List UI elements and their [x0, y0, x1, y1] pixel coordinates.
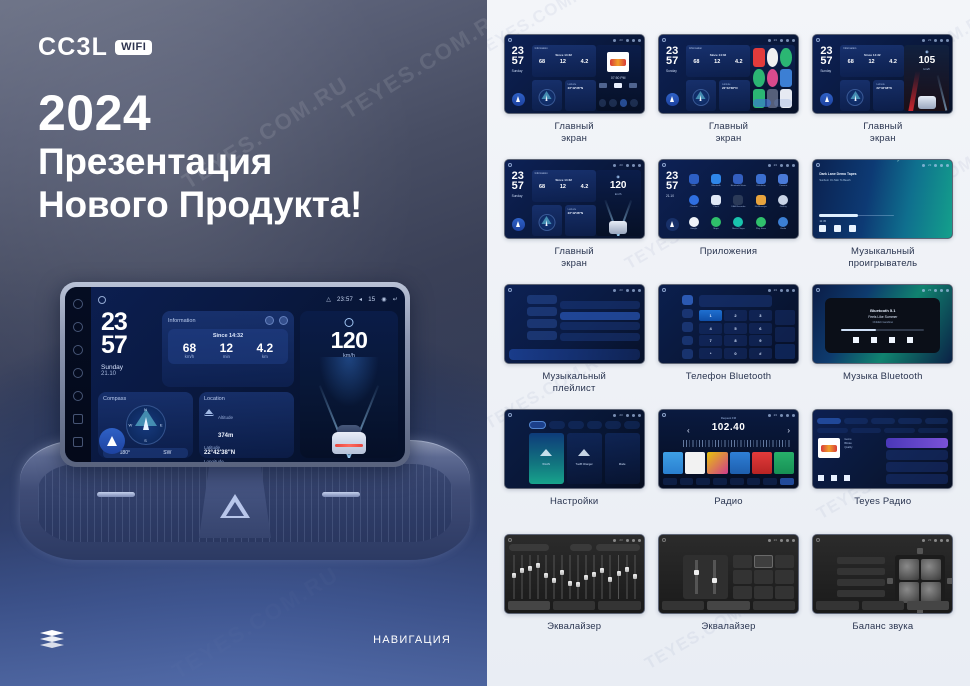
next-icon[interactable]	[849, 225, 856, 232]
preset-tile[interactable]	[754, 586, 773, 599]
navigation-fab	[820, 93, 833, 106]
fader-handle[interactable]	[600, 568, 604, 573]
dialpad-key[interactable]: 9	[749, 335, 772, 346]
dialpad[interactable]: 1 2 3 4 5 6 7 8 9 * 0 #	[699, 310, 772, 359]
compass-dial: N S E W	[126, 405, 166, 445]
settings-card-mode[interactable]: Mode	[605, 433, 640, 484]
app-label: Radio	[780, 228, 786, 230]
expand-icon[interactable]	[279, 316, 288, 325]
tab[interactable]	[871, 418, 895, 424]
dialpad-key[interactable]: 0	[724, 348, 747, 359]
settings-icon[interactable]	[763, 478, 777, 485]
gallery-item[interactable]: .23...	[501, 284, 647, 409]
preset-tile[interactable]	[733, 570, 752, 583]
eq-fader[interactable]	[543, 555, 549, 599]
volume-down-icon[interactable]	[73, 414, 83, 424]
fader-handle[interactable]	[608, 577, 612, 582]
station-row[interactable]	[886, 474, 948, 484]
dialpad-key[interactable]: 3	[749, 310, 772, 321]
sidebar-item[interactable]	[527, 319, 557, 328]
home-icon	[816, 38, 820, 42]
mini-music-player: .23... Dark Lane Demo Tapes Sunburn On S…	[813, 160, 952, 238]
dialpad-key[interactable]: *	[699, 348, 722, 359]
stop-icon[interactable]	[831, 475, 837, 481]
tab-fade[interactable]	[753, 601, 795, 610]
fader-handle[interactable]	[625, 567, 629, 572]
wifi-icon: .	[613, 39, 616, 42]
thumbnail-sound-balance[interactable]: .23...	[812, 534, 953, 614]
search-icon[interactable]	[682, 322, 693, 332]
settings-card-wlan[interactable]: WLAN	[529, 433, 564, 484]
phone-sidebar[interactable]	[681, 295, 695, 359]
eq-fader[interactable]	[535, 555, 541, 599]
tab-navigate[interactable]	[605, 421, 621, 429]
volume-icon[interactable]: ◂	[359, 296, 362, 303]
hud-speed-unit: km/h	[904, 67, 949, 71]
band-button[interactable]	[663, 478, 677, 485]
hud-speed-value: 105	[904, 55, 949, 66]
app-tile[interactable]: DAB Recorder	[728, 192, 749, 213]
play-store-icon	[756, 217, 766, 227]
dialpad-key[interactable]: #	[749, 348, 772, 359]
clock-day: Sunday	[512, 69, 524, 73]
eq-fader[interactable]	[607, 555, 613, 599]
album-art	[607, 52, 629, 72]
tab-theme[interactable]	[587, 421, 603, 429]
playback-controls[interactable]	[819, 225, 856, 232]
caption-line1: Главный	[709, 121, 748, 133]
information-title: Information	[168, 318, 196, 324]
music-time: 07:50 PM	[596, 76, 641, 80]
sidebar-item[interactable]	[527, 331, 557, 340]
call-history-icon[interactable]	[682, 336, 693, 346]
sidebar-item[interactable]	[527, 295, 557, 304]
app-tile[interactable]: Maps	[705, 213, 726, 234]
preset-tile[interactable]	[774, 452, 794, 474]
preset-tile[interactable]	[730, 452, 750, 474]
now-playing-bar[interactable]	[509, 349, 640, 360]
eq-fader[interactable]	[575, 555, 581, 599]
dialpad-key[interactable]: 6	[749, 323, 772, 334]
call-icon[interactable]	[775, 344, 795, 359]
hud-speed-value: 120	[596, 180, 641, 191]
gallery-item[interactable]: .23... Dark Lane Demo Tapes Sunburn On S…	[810, 159, 956, 284]
tab-fade[interactable]	[598, 601, 640, 610]
eq-fader[interactable]	[519, 555, 525, 599]
mini-phone-screen: .23... 1 2 3 4 5	[659, 285, 798, 363]
fader-handle[interactable]	[576, 582, 580, 587]
eq-slider[interactable]	[713, 560, 716, 594]
settings-card-changer[interactable]: Tuoffl Changer	[567, 433, 602, 484]
speaker-rear-right[interactable]	[921, 582, 941, 603]
thumbnail-radio[interactable]: .23... Request FM ‹ 102.40 ›	[658, 409, 799, 489]
preset-tile[interactable]	[754, 555, 773, 568]
status-time: 23	[619, 538, 622, 542]
radio-toolbar[interactable]	[663, 477, 794, 485]
dialpad-key[interactable]: 1	[699, 310, 722, 321]
tab-eq[interactable]	[662, 601, 704, 610]
gallery-item[interactable]: .23... 23 57 21.10 WiFi Bluetooth Blueto…	[655, 159, 801, 284]
station-row[interactable]	[886, 450, 948, 460]
fader-handle[interactable]	[520, 568, 524, 573]
fader-handle[interactable]	[536, 563, 540, 568]
information-actions[interactable]	[265, 316, 288, 325]
caption-line2: экран	[863, 133, 902, 145]
app-tile[interactable]: Camera	[773, 170, 794, 191]
fader-handle[interactable]	[617, 571, 621, 576]
filter[interactable]	[884, 428, 915, 433]
station-row[interactable]	[886, 462, 948, 472]
mini-status-bar: .23...	[662, 162, 795, 168]
app-tile[interactable]: Gallery	[773, 192, 794, 213]
thumbnail-playlist[interactable]: .23...	[504, 284, 645, 364]
hud-widget[interactable]: 120 km/h	[300, 311, 398, 458]
preset-tile[interactable]	[775, 586, 794, 599]
back-icon: .	[946, 39, 949, 42]
gallery-item[interactable]: .23... Bluetooth 5.1 Feels Like Summer C…	[810, 284, 956, 409]
fader-handle[interactable]	[592, 572, 596, 577]
eq-fader[interactable]	[624, 555, 630, 599]
thumbnail-equalizer-presets[interactable]: .23...	[658, 534, 799, 614]
progress-bar[interactable]	[819, 215, 894, 217]
list-icon[interactable]	[696, 478, 710, 485]
logo-wifi-badge: WIFI	[115, 40, 152, 55]
thumbnail-teyes-radio[interactable]: GenreBitrateQuality	[812, 409, 953, 489]
fader-handle[interactable]	[512, 573, 516, 578]
preset-tile[interactable]	[663, 452, 683, 474]
app-tile[interactable]: Bluetooth	[705, 170, 726, 191]
tab[interactable]	[925, 418, 949, 424]
tab[interactable]	[844, 418, 868, 424]
eq-fader[interactable]	[591, 555, 597, 599]
teyes-radio-filters[interactable]	[817, 428, 948, 434]
status-time: 23	[774, 538, 777, 542]
playlist-sidebar[interactable]	[527, 295, 557, 343]
app-label: Google	[690, 228, 697, 230]
back-icon: .	[638, 164, 641, 167]
thumbnail-bluetooth-phone[interactable]: .23... 1 2 3 4 5	[658, 284, 799, 364]
mini-status-bar: .23...	[662, 37, 795, 43]
volume-icon: .	[780, 539, 783, 542]
next-icon[interactable]	[907, 337, 913, 343]
clock-widget: 23 57 Sunday 21.10	[98, 311, 156, 387]
fader-handle[interactable]	[544, 573, 548, 578]
playback-controls[interactable]	[818, 475, 850, 481]
thumbnail-home-music[interactable]: .23... 23 57 Sunday Information Since 14…	[504, 34, 645, 114]
eq-sliders[interactable]	[683, 555, 728, 599]
gallery-caption: Музыкальный проигрыватель	[848, 246, 917, 269]
speaker-front-right[interactable]	[921, 559, 941, 580]
balance-pad[interactable]	[895, 555, 945, 607]
thumbnail-equalizer[interactable]: .23...	[504, 534, 645, 614]
backspace-icon[interactable]	[775, 327, 795, 342]
eq-toggle[interactable]	[570, 544, 592, 551]
thumbnail-settings[interactable]: .23... WLAN	[504, 409, 645, 489]
eq-fader[interactable]	[632, 555, 638, 599]
gallery-item[interactable]: .23... 23 57 Sunday Information Since 14…	[655, 34, 801, 159]
track-row[interactable]	[560, 301, 640, 309]
sidebar-item[interactable]	[527, 307, 557, 316]
dialpad-key[interactable]: 7	[699, 335, 722, 346]
gallery-item[interactable]: .23... 23 57 Sunday Information Since 14…	[501, 34, 647, 159]
app-tile[interactable]: FileManager	[750, 192, 771, 213]
dialpad-key[interactable]: 4	[699, 323, 722, 334]
mini-status-bar: .23...	[508, 162, 641, 168]
thumbnail-bluetooth-music[interactable]: .23... Bluetooth 5.1 Feels Like Summer C…	[812, 284, 953, 364]
location-widget[interactable]: Location Altitude 374m	[199, 392, 294, 458]
app-label: Bluetooth Music	[731, 185, 747, 187]
navigation-fab[interactable]	[99, 428, 125, 454]
app-tile[interactable]: WiFi	[683, 170, 704, 191]
station-row[interactable]	[886, 438, 948, 448]
trip-stat-value: 4.2	[581, 59, 589, 65]
status-icons: .23...	[613, 163, 640, 167]
mini-bt-music-screen: .23... Bluetooth 5.1 Feels Like Summer C…	[813, 285, 952, 363]
gallery-item[interactable]: .23... 1 2 3 4 5	[655, 284, 801, 409]
settings-tabs[interactable]	[529, 420, 640, 429]
next-icon[interactable]	[73, 322, 83, 332]
gallery-item[interactable]: GenreBitrateQuality Teyes Радио	[810, 409, 956, 534]
track-list[interactable]	[560, 295, 640, 347]
track-row[interactable]	[560, 333, 640, 341]
speaker-rear-left[interactable]	[899, 582, 919, 603]
navigation-fab	[666, 93, 679, 106]
eq-fader[interactable]	[567, 555, 573, 599]
gallery-item[interactable]: .23... 23 57 Sunday Information Since 14…	[501, 159, 647, 284]
preset-tile[interactable]	[733, 555, 752, 568]
status-time: 23	[774, 38, 777, 42]
fader-handle[interactable]	[568, 581, 572, 586]
gear-icon: .	[786, 539, 789, 542]
gallery-item[interactable]: .23... 23 57 Sunday Information Since 14…	[810, 34, 956, 159]
slider-handle[interactable]	[694, 570, 699, 575]
dab-icon[interactable]	[713, 478, 727, 485]
contacts-icon[interactable]	[682, 309, 693, 319]
status-time: 23	[928, 538, 931, 542]
app-tile[interactable]: Calculator	[750, 170, 771, 191]
eq-fader[interactable]	[583, 555, 589, 599]
prev-icon[interactable]	[73, 299, 83, 309]
dialpad-key[interactable]: 8	[724, 335, 747, 346]
back-icon: .	[792, 289, 795, 292]
status-icons: .23...	[768, 288, 795, 292]
filter[interactable]	[817, 428, 848, 433]
eq-fader[interactable]	[511, 555, 517, 599]
tab-common[interactable]	[568, 421, 584, 429]
station-list[interactable]	[886, 438, 948, 484]
mini-compass-card	[532, 80, 562, 111]
preset-tile[interactable]	[754, 570, 773, 583]
fader-handle[interactable]	[560, 570, 564, 575]
preset-tile[interactable]	[752, 452, 772, 474]
favorites-icon[interactable]	[780, 478, 794, 485]
eq-footer-tabs[interactable]	[816, 601, 949, 610]
information-widget[interactable]: Information Since 14:32	[162, 311, 294, 387]
eq-fader[interactable]	[615, 555, 621, 599]
tab-balance[interactable]	[907, 601, 949, 610]
gallery-item[interactable]: .23... WLAN	[501, 409, 647, 534]
arrow-up-icon[interactable]	[917, 548, 923, 554]
gallery-item[interactable]: .23...	[655, 534, 801, 659]
thumbnail-home-hud-blue[interactable]: .23... 23 57 Sunday Information Since 14…	[504, 159, 645, 239]
eq-header[interactable]	[509, 543, 640, 551]
hero-headline-line2: Нового Продукта!	[38, 184, 362, 227]
app-tile[interactable]: Google	[683, 213, 704, 234]
number-field[interactable]	[699, 295, 772, 307]
speaker-front-left[interactable]	[899, 559, 919, 580]
layer-top	[40, 630, 64, 636]
tab-wifi[interactable]	[529, 421, 547, 429]
gallery-item[interactable]: .23...	[501, 534, 647, 659]
since-label: Since 14:32	[532, 178, 596, 182]
mini-status-bar: .23...	[508, 412, 641, 418]
home-icon	[816, 538, 820, 542]
preset-tile[interactable]	[685, 452, 705, 474]
app-tile[interactable]: Chrome	[683, 192, 704, 213]
tab-eq[interactable]	[508, 601, 550, 610]
search-icon[interactable]	[680, 478, 694, 485]
back-icon[interactable]: ↵	[393, 296, 398, 303]
gallery-item[interactable]: .23...	[810, 534, 956, 659]
information-title: Information	[535, 47, 596, 50]
pause-icon[interactable]	[834, 225, 841, 232]
trip-stat-value: 68	[539, 59, 545, 65]
filter[interactable]	[918, 428, 949, 433]
eq-footer-tabs[interactable]	[508, 601, 641, 610]
gallery-caption: Главный экран	[555, 121, 594, 144]
thumbnail-apps[interactable]: .23... 23 57 21.10 WiFi Bluetooth Blueto…	[658, 159, 799, 239]
eq-fader[interactable]	[527, 555, 533, 599]
arrow-right-icon[interactable]	[947, 578, 953, 584]
apps-grid[interactable]: WiFi Bluetooth Bluetooth Music Calculato…	[683, 170, 794, 234]
status-time: 23:57	[337, 297, 353, 303]
tab[interactable]	[898, 418, 922, 424]
rds-icon[interactable]	[730, 478, 744, 485]
volume-up-icon[interactable]	[73, 437, 83, 447]
tab-system[interactable]	[624, 421, 640, 429]
wifi-icon: .	[613, 539, 616, 542]
radio-presets[interactable]	[663, 452, 794, 474]
fader-handle[interactable]	[528, 566, 532, 571]
filter[interactable]	[851, 428, 882, 433]
arrow-left-icon[interactable]	[887, 578, 893, 584]
app-tile[interactable]: Bluetooth Music	[728, 170, 749, 191]
eq-reset[interactable]	[596, 544, 640, 551]
tab-eq[interactable]	[816, 601, 858, 610]
dialpad-key[interactable]: 5	[724, 323, 747, 334]
settings-cards[interactable]: WLAN Tuoffl Changer Mode	[529, 433, 640, 484]
mini-information-card: Information Since 14:32 68 12 4.2	[686, 45, 750, 77]
radio-band-label: Request FM	[659, 416, 798, 420]
prev-icon[interactable]	[853, 337, 859, 343]
play-pause-icon[interactable]	[871, 337, 877, 343]
tab[interactable]	[817, 418, 841, 424]
caption-line1: Главный	[555, 246, 594, 258]
progress-bar[interactable]	[841, 329, 924, 331]
eq-preset-grid[interactable]	[733, 555, 794, 599]
settings-icon[interactable]	[682, 349, 693, 359]
app-tile[interactable]: Radio	[773, 213, 794, 234]
stop-icon[interactable]	[889, 337, 895, 343]
mini-location-card: Latitude 22°42'38"N	[719, 80, 750, 111]
track-row[interactable]	[560, 322, 640, 330]
eq-fader[interactable]	[599, 555, 605, 599]
phone-actions[interactable]	[775, 310, 795, 359]
preset-tile[interactable]	[707, 452, 727, 474]
prev-icon[interactable]	[818, 475, 824, 481]
clock-day: Sunday	[820, 69, 832, 73]
eq-footer-tabs[interactable]	[662, 601, 795, 610]
caption-line1: Teyes Радио	[854, 496, 911, 508]
teyes-radio-tabs[interactable]	[817, 418, 948, 425]
volume-icon: .	[934, 39, 937, 42]
app-tile[interactable]: Clock	[705, 192, 726, 213]
eq-slider[interactable]	[695, 560, 698, 594]
gallery-item[interactable]: .23... Request FM ‹ 102.40 ›	[655, 409, 801, 534]
app-tile[interactable]: Music Player	[728, 213, 749, 234]
fader-handle[interactable]	[584, 575, 588, 580]
back-icon[interactable]	[73, 391, 83, 401]
star-icon[interactable]	[775, 310, 795, 325]
eq-faders[interactable]	[511, 555, 638, 599]
altitude-label: Altitude	[218, 415, 233, 420]
prev-icon[interactable]	[819, 225, 826, 232]
frequency-scale[interactable]	[683, 440, 792, 447]
tab-balance[interactable]	[553, 601, 595, 610]
app-label: FileManager	[755, 206, 767, 208]
slider-handle[interactable]	[712, 578, 717, 583]
head-unit-side-rail[interactable]	[65, 287, 91, 462]
tab-presets[interactable]	[862, 601, 904, 610]
power-icon[interactable]	[73, 345, 83, 355]
gear-icon[interactable]: ◉	[381, 296, 386, 303]
home-icon[interactable]	[98, 296, 106, 304]
fader-handle[interactable]	[552, 578, 556, 583]
fader-handle[interactable]	[633, 574, 637, 579]
thumbnail-home-apps[interactable]: .23... 23 57 Sunday Information Since 14…	[658, 34, 799, 114]
preset-tile[interactable]	[775, 555, 794, 568]
album-art	[818, 438, 840, 458]
track-row[interactable]	[560, 312, 640, 320]
latitude-value: 22°42'38"N	[876, 86, 904, 90]
eq-icon[interactable]	[747, 478, 761, 485]
tab-presets[interactable]	[707, 601, 749, 610]
refresh-icon[interactable]	[265, 316, 274, 325]
tab-sound[interactable]	[549, 421, 565, 429]
home-icon[interactable]	[73, 368, 83, 378]
trip-stat-value: 4.2	[581, 184, 589, 190]
clock-minutes: 57	[666, 56, 678, 66]
eq-fader[interactable]	[559, 555, 565, 599]
preset-tile[interactable]	[733, 586, 752, 599]
dialpad-icon[interactable]	[682, 295, 693, 305]
preset-tile[interactable]	[775, 570, 794, 583]
thumbnail-home-hud-red[interactable]: .23... 23 57 Sunday Information Since 14…	[812, 34, 953, 114]
navigation-fab	[512, 93, 525, 106]
eq-fader[interactable]	[551, 555, 557, 599]
next-station-icon[interactable]: ›	[787, 426, 790, 435]
dialpad-key[interactable]: 2	[724, 310, 747, 321]
preset-name[interactable]	[509, 544, 549, 551]
mountain-icon	[204, 409, 214, 416]
thumbnail-music-player[interactable]: .23... Dark Lane Demo Tapes Sunburn On S…	[812, 159, 953, 239]
app-tile[interactable]: Play Store	[750, 213, 771, 234]
since-label: Since 14:32	[686, 53, 750, 57]
next-icon[interactable]	[844, 475, 850, 481]
app-label: Calculator	[756, 185, 766, 187]
prev-icon	[599, 83, 607, 88]
playback-controls[interactable]	[853, 337, 913, 343]
